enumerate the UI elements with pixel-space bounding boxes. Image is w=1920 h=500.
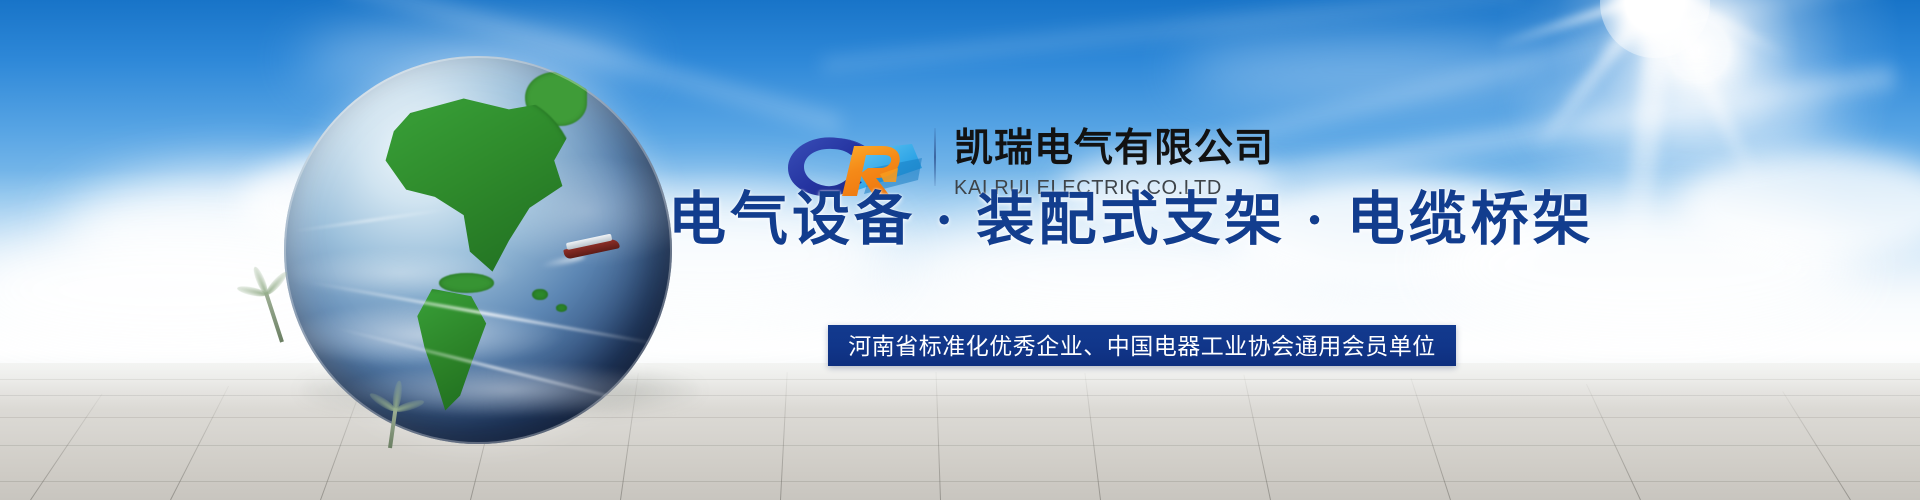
tile-line-vertical (30, 394, 102, 500)
globe-sphere (284, 56, 672, 444)
award-banner: 河南省标准化优秀企业、中国电器工业协会通用会员单位 (828, 325, 1456, 366)
hero-banner: 凯瑞电气有限公司 KAI RUI ELECTRIC CO.LTD 电气设备 · … (0, 0, 1920, 500)
cloud (1540, 80, 1840, 150)
cloud (1180, 40, 1560, 100)
slogan-text: 电气设备 · 装配式支架 · 电缆桥架 (668, 185, 1668, 255)
award-text: 河南省标准化优秀企业、中国电器工业协会通用会员单位 (848, 333, 1436, 359)
earth-globe-icon (268, 40, 688, 460)
company-name-cn: 凯瑞电气有限公司 (954, 126, 1274, 172)
logo-divider (934, 128, 936, 186)
landmass-caribbean (439, 273, 493, 292)
